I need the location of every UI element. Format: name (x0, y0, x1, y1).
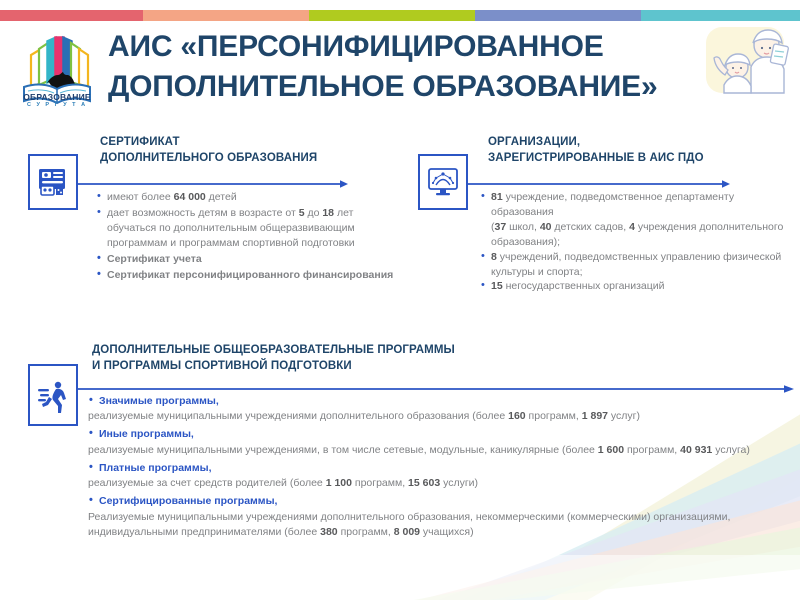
color-bar-segment-1 (0, 10, 143, 21)
running-person-icon (35, 377, 71, 413)
highlighted-number: 40 931 (680, 444, 712, 456)
highlighted-number: 5 (299, 207, 305, 219)
list-item: Сертификат учета (96, 252, 396, 267)
section-certificate: СЕРТИФИКАТ ДОПОЛНИТЕЛЬНОГО ОБРАЗОВАНИЯ и… (0, 132, 410, 332)
organizations-icon-box (418, 154, 468, 210)
logo-obrazovanie-surguta: ОБРАЗОВАНИЕ С У Р Г У Т А (14, 25, 100, 121)
section-certificate-heading-line-2: ДОПОЛНИТЕЛЬНОГО ОБРАЗОВАНИЯ (100, 150, 317, 166)
highlighted-number: 81 (491, 191, 503, 203)
highlighted-number: 8 009 (394, 526, 420, 538)
highlighted-number: 160 (508, 410, 526, 422)
program-title: Платные программы, (88, 461, 788, 476)
bullet-text: Сертификат персонифицированного финансир… (107, 269, 393, 281)
list-item: 8 учреждений, подведомственных управлени… (480, 250, 795, 280)
list-item: Платные программы, реализуемые за счет с… (88, 461, 788, 491)
list-item: 81 учреждение, подведомственное департам… (480, 190, 795, 250)
program-description: реализуемые муниципальными учреждениями,… (88, 443, 788, 458)
highlighted-number: 380 (320, 526, 338, 538)
color-bar-segment-3 (309, 10, 475, 21)
highlighted-number: 37 (495, 221, 507, 233)
section-certificate-arrow (78, 179, 348, 189)
color-bar-segment-4 (475, 10, 641, 21)
programs-icon-box (28, 364, 78, 426)
certificate-icon-box (28, 154, 78, 210)
section-organizations: ОРГАНИЗАЦИИ, ЗАРЕГИСТРИРОВАННЫЕ В АИС ПД… (410, 132, 800, 322)
section-certificate-heading: СЕРТИФИКАТ ДОПОЛНИТЕЛЬНОГО ОБРАЗОВАНИЯ (100, 134, 317, 167)
section-programs-heading-line-1: ДОПОЛНИТЕЛЬНЫЕ ОБЩЕОБРАЗОВАТЕЛЬНЫЕ ПРОГР… (92, 342, 455, 358)
color-bar-segment-5 (641, 10, 800, 21)
logo-subtitle: С У Р Г У Т А (14, 103, 100, 109)
section-organizations-arrow (468, 179, 730, 189)
list-item: 15 негосударственных организаций (480, 279, 795, 294)
highlighted-number: 64 000 (174, 191, 206, 203)
section-organizations-heading-line-2: ЗАРЕГИСТРИРОВАННЫЕ В АИС ПДО (488, 150, 704, 166)
page-title-line-1: АИС «ПЕРСОНИФИЦИРОВАННОЕ (108, 27, 688, 67)
list-item: дает возможность детям в возрасте от 5 д… (96, 206, 396, 251)
monitor-network-icon (426, 165, 460, 199)
list-item: Сертифицированные программы, Реализуемые… (88, 494, 788, 540)
program-title: Сертифицированные программы, (88, 494, 788, 509)
section-programs-heading-line-2: И ПРОГРАММЫ СПОРТИВНОЙ ПОДГОТОВКИ (92, 358, 455, 374)
program-description: реализуемые муниципальными учреждениями … (88, 409, 788, 424)
logo-caption: ОБРАЗОВАНИЕ С У Р Г У Т А (14, 93, 100, 109)
bullet-text: имеют более 64 000 детей (107, 191, 237, 203)
bullet-text: 15 негосударственных организаций (491, 280, 665, 292)
section-certificate-heading-line-1: СЕРТИФИКАТ (100, 134, 317, 150)
list-item: Сертификат персонифицированного финансир… (96, 268, 396, 283)
page-title-line-2: ДОПОЛНИТЕЛЬНОЕ ОБРАЗОВАНИЕ» (108, 67, 688, 107)
section-programs-arrow (78, 384, 794, 394)
page-title: АИС «ПЕРСОНИФИЦИРОВАННОЕ ДОПОЛНИТЕЛЬНОЕ … (108, 27, 688, 107)
logo-name: ОБРАЗОВАНИЕ (23, 92, 91, 102)
highlighted-number: 15 (491, 280, 503, 292)
bullet-text: 81 учреждение, подведомственное департам… (491, 191, 734, 218)
list-item: Иные программы, реализуемые муниципальны… (88, 427, 788, 457)
bullet-text: 8 учреждений, подведомственных управлени… (491, 251, 781, 278)
section-organizations-heading-line-1: ОРГАНИЗАЦИИ, (488, 134, 704, 150)
programs-list: Значимые программы, реализуемые муниципа… (88, 394, 788, 543)
highlighted-number: 15 603 (408, 477, 440, 489)
teacher-and-child-illustration (696, 23, 792, 107)
highlighted-number: 1 100 (326, 477, 352, 489)
highlighted-number: 4 (629, 221, 635, 233)
bullet-subtext: (37 школ, 40 детских садов, 4 учреждения… (491, 220, 795, 250)
list-item: Значимые программы, реализуемые муниципа… (88, 394, 788, 424)
certificate-card-icon (36, 165, 70, 199)
program-description: Реализуемые муниципальными учреждениями … (88, 510, 788, 540)
highlighted-number: 8 (491, 251, 497, 263)
highlighted-number: 1 600 (598, 444, 624, 456)
top-color-bar (0, 10, 800, 21)
program-description: реализуемые за счет средств родителей (б… (88, 476, 788, 491)
highlighted-number: 18 (322, 207, 334, 219)
highlighted-number: 1 897 (582, 410, 608, 422)
section-organizations-heading: ОРГАНИЗАЦИИ, ЗАРЕГИСТРИРОВАННЫЕ В АИС ПД… (488, 134, 704, 167)
program-title: Значимые программы, (88, 394, 788, 409)
color-bar-segment-2 (143, 10, 309, 21)
bullet-text: дает возможность детям в возрасте от 5 д… (107, 207, 355, 249)
page-header: ОБРАЗОВАНИЕ С У Р Г У Т А АИС «ПЕРСОНИФИ… (0, 21, 800, 126)
section-organizations-bullets: 81 учреждение, подведомственное департам… (480, 190, 795, 294)
list-item: имеют более 64 000 детей (96, 190, 396, 205)
section-certificate-bullets: имеют более 64 000 детей дает возможност… (96, 190, 396, 283)
program-title: Иные программы, (88, 427, 788, 442)
section-programs-heading: ДОПОЛНИТЕЛЬНЫЕ ОБЩЕОБРАЗОВАТЕЛЬНЫЕ ПРОГР… (92, 342, 455, 375)
highlighted-number: 40 (540, 221, 552, 233)
section-programs: ДОПОЛНИТЕЛЬНЫЕ ОБЩЕОБРАЗОВАТЕЛЬНЫЕ ПРОГР… (0, 340, 800, 585)
bullet-text: Сертификат учета (107, 253, 202, 265)
